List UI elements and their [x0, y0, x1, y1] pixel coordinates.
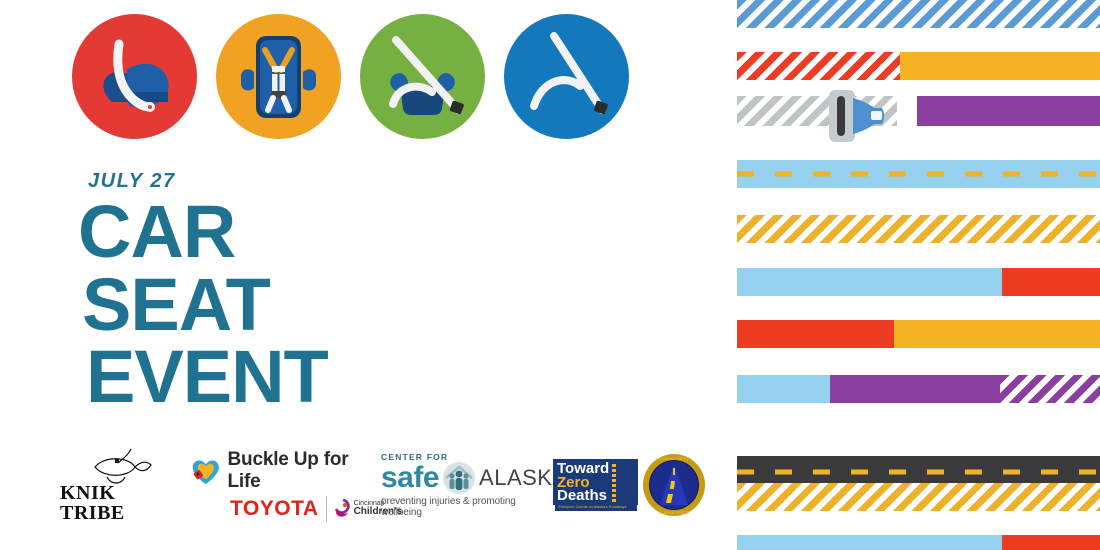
tzd-road-dash-icon: [612, 462, 617, 503]
car-seat-event-poster: JULY 27 CAR SEAT EVENT KNIK TRIBE: [0, 0, 1100, 550]
stripe-segment: [1002, 535, 1100, 550]
stripe-host: [737, 0, 1100, 60]
stripe-segment: [737, 0, 1100, 28]
stripe-segment: [737, 320, 894, 348]
stripe-segment: [737, 483, 1100, 511]
forward-facing-harness-seat-glyph: [216, 14, 341, 139]
seatbelt-buckle-icon: [823, 88, 889, 144]
logo-safe-alaskans: CENTER FOR safe ALASKANS pre: [375, 441, 553, 529]
headline-line-1: CAR: [78, 196, 328, 269]
stripe-segment: [737, 375, 830, 403]
rear-facing-infant-seat-glyph: [72, 14, 197, 139]
buckle-heart-icon: [190, 456, 222, 486]
tzd-subtitle: Everyone Counts on Alaska's Roadways: [555, 505, 637, 511]
stripe-row: [737, 96, 1100, 126]
stripe-segment: [737, 215, 1100, 243]
tzd-word-deaths: Deaths: [557, 489, 609, 503]
stripe-segment: [917, 96, 1100, 126]
stripe-row: [737, 160, 1100, 188]
svg-text:HIGHWAY SAFETY: HIGHWAY SAFETY: [656, 456, 692, 461]
poster-left-panel: JULY 27 CAR SEAT EVENT KNIK TRIBE: [0, 0, 730, 550]
headline-line-3: EVENT: [78, 341, 328, 414]
stripe-row: [737, 268, 1100, 296]
stripe-segment: [737, 160, 1100, 188]
logo-alaska-highway-safety-office: HIGHWAY SAFETY ALASKA OFFICE: [638, 441, 710, 529]
stripe-segment: [737, 268, 1002, 296]
safe-alaskans-safe-word: safe: [381, 463, 439, 493]
stripe-row: [737, 375, 1100, 403]
safe-alaskans-tagline: preventing injuries & promoting wellbein…: [381, 496, 553, 518]
car-seat-stage-icon-row: [72, 14, 629, 139]
logo-buckle-up-for-life: Buckle Up for Life TOYOTA Cincinnati C: [180, 441, 375, 529]
buckle-up-for-life-title: Buckle Up for Life: [228, 449, 375, 493]
safe-alaskans-family-house-icon: [441, 461, 477, 495]
booster-seat-glyph: [360, 14, 485, 139]
stripe-segment: [1000, 375, 1100, 403]
seat-belt-icon: [504, 14, 629, 139]
knik-tribe-wordmark: KNIK TRIBE: [60, 483, 180, 523]
svg-text:ALASKA OFFICE: ALASKA OFFICE: [658, 510, 689, 515]
stripe-row: [737, 535, 1100, 550]
stripe-segment: [897, 96, 917, 126]
rear-facing-infant-seat-icon: [72, 14, 197, 139]
stripe-row: [737, 215, 1100, 243]
stripe-segment: [894, 320, 1100, 348]
stripe-row: [737, 52, 1100, 80]
seat-belt-glyph: [504, 14, 629, 139]
headline-line-2: SEAT: [78, 269, 328, 342]
stripe-row: [737, 0, 1100, 28]
stripe-segment: [900, 52, 1100, 80]
stripe-segment: [830, 375, 1000, 403]
stripe-segment: [737, 535, 1002, 550]
page-title: CAR SEAT EVENT: [78, 196, 328, 414]
sponsor-logo-strip: KNIK TRIBE Buckle Up for Life TOYOTA: [60, 440, 710, 530]
stripe-row: [737, 483, 1100, 511]
cincinnati-childrens-mark-icon: [334, 499, 351, 519]
highway-safety-office-seal-icon: HIGHWAY SAFETY ALASKA OFFICE: [642, 453, 706, 517]
stripe-segment: [737, 52, 900, 80]
logo-divider: [326, 496, 327, 522]
forward-facing-harness-seat-icon: [216, 14, 341, 139]
poster-right-stripe-panel: [737, 0, 1100, 550]
logo-toward-zero-deaths: Toward Zero Deaths Everyone Counts on Al…: [553, 441, 638, 529]
stripe-row: [737, 320, 1100, 348]
booster-seat-icon: [360, 14, 485, 139]
logo-knik-tribe: KNIK TRIBE: [60, 441, 180, 529]
stripe-segment: [1002, 268, 1100, 296]
toyota-wordmark: TOYOTA: [230, 497, 319, 521]
